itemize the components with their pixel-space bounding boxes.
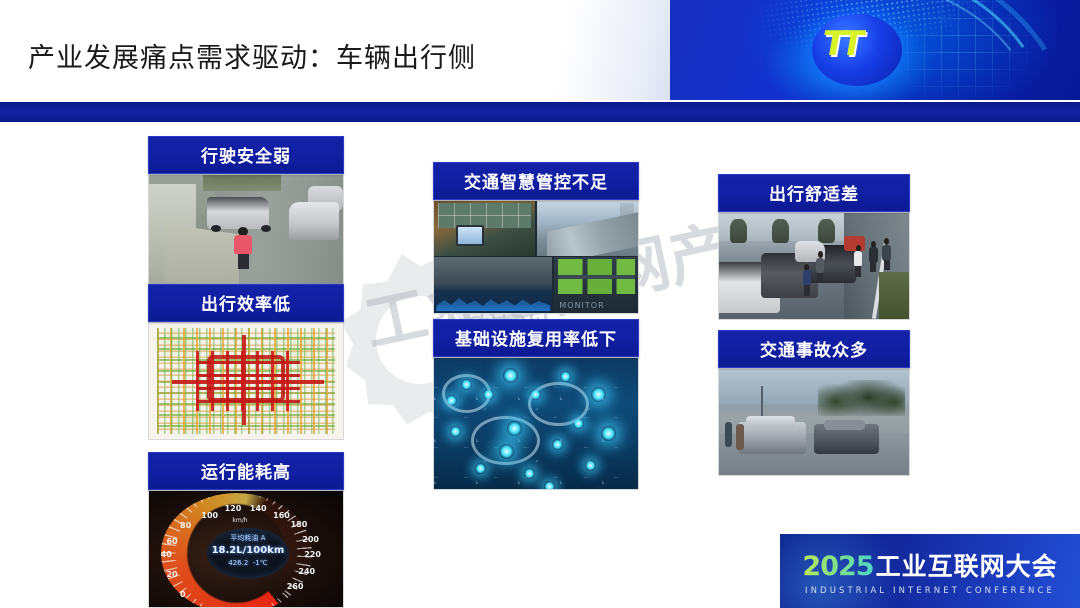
header-tech-graphic: CB TT — [670, 0, 1080, 100]
page-title: 产业发展痛点需求驱动：车辆出行侧 — [28, 36, 476, 75]
card-label-traffic-control: 交通智慧管控不足 — [433, 162, 639, 200]
conference-logo: 2025 工业互联网大会 INDUSTRIAL INTERNET CONFERE… — [780, 534, 1080, 608]
card-label-driving-safety: 行驶安全弱 — [148, 136, 344, 174]
header-circuit-grid-icon — [890, 0, 1080, 100]
highway-interchange-network-photo — [433, 357, 639, 490]
tt-logo-icon: TT — [818, 24, 898, 72]
car-dashboard-photo: 0 20 40 60 80 100 120 140 160 180 200 22… — [148, 490, 344, 608]
dashboard-temp-value: -1℃ — [253, 559, 268, 567]
card-infrastructure-reuse: 基础设施复用率低下 — [433, 319, 639, 490]
card-driving-safety: 行驶安全弱 — [148, 136, 344, 288]
card-travel-efficiency: 出行效率低 — [148, 284, 344, 440]
card-label-infrastructure-reuse: 基础设施复用率低下 — [433, 319, 639, 357]
highway-traffic-jam-photo — [718, 212, 910, 320]
card-label-energy-consumption: 运行能耗高 — [148, 452, 344, 490]
dashboard-range-value: 426.2 — [228, 559, 248, 567]
traffic-congestion-map-photo — [148, 322, 344, 440]
card-label-traffic-accidents: 交通事故众多 — [718, 330, 910, 368]
slide-header: CB TT 产业发展痛点需求驱动：车辆出行侧 — [0, 0, 1080, 100]
card-label-travel-efficiency: 出行效率低 — [148, 284, 344, 322]
card-travel-comfort: 出行舒适差 — [718, 174, 910, 320]
card-energy-consumption: 运行能耗高 0 20 40 60 80 100 120 140 160 180 … — [148, 452, 344, 608]
overturned-vehicle-accident-photo — [718, 368, 910, 476]
dashboard-readout-caption: 平均耗油 A — [207, 533, 288, 544]
header-divider-bar — [0, 102, 1080, 122]
conference-name-cn: 工业互联网大会 — [876, 547, 1058, 583]
street-surveillance-photo — [148, 174, 344, 288]
conference-name-en: INDUSTRIAL INTERNET CONFERENCE — [805, 586, 1055, 596]
card-traffic-accidents: 交通事故众多 — [718, 330, 910, 476]
slide-root: CB TT 产业发展痛点需求驱动：车辆出行侧 工业互联网产业 Industria… — [0, 0, 1080, 608]
card-label-travel-comfort: 出行舒适差 — [718, 174, 910, 212]
dashboard-readout: 平均耗油 A 18.2L/100km 426.2 -1℃ — [207, 533, 288, 569]
dashboard-fuel-value: 18.2L/100km — [212, 545, 285, 556]
card-traffic-control: 交通智慧管控不足 MONITOR — [433, 162, 639, 314]
conference-year: 2025 — [802, 551, 873, 582]
traffic-control-room-collage-photo: MONITOR — [433, 200, 639, 314]
